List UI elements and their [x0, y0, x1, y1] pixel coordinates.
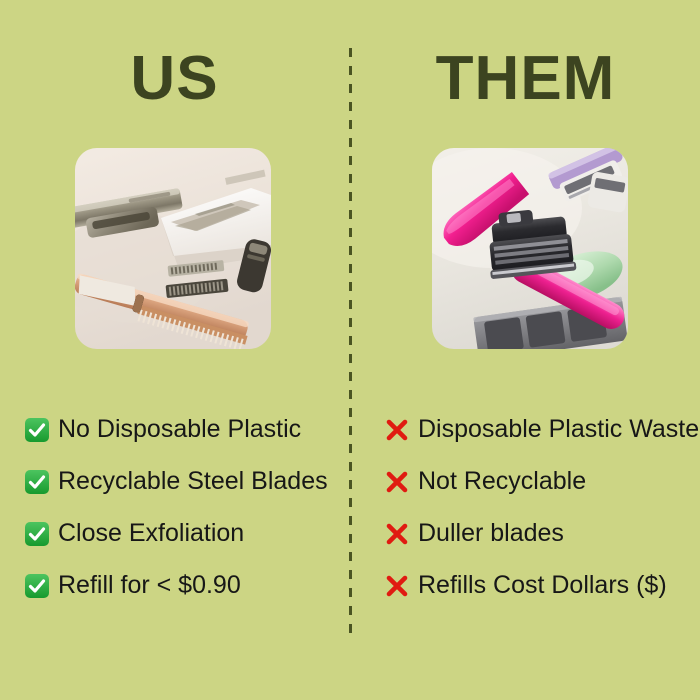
list-item: Refills Cost Dollars ($) [384, 560, 684, 612]
list-item: Disposable Plastic Waste [384, 404, 684, 456]
feature-list-us: No Disposable Plastic Recyclable Steel B… [24, 404, 344, 612]
feature-list-them: Disposable Plastic Waste Not Recyclable … [384, 404, 684, 612]
cross-icon [384, 573, 410, 599]
check-icon [24, 417, 50, 443]
product-photo-us [75, 148, 271, 349]
comparison-infographic: US THEM [0, 0, 700, 700]
list-item-label: Refill for < $0.90 [58, 572, 241, 600]
list-item: Recyclable Steel Blades [24, 456, 344, 508]
list-item: Duller blades [384, 508, 684, 560]
list-item: No Disposable Plastic [24, 404, 344, 456]
list-item-label: No Disposable Plastic [58, 416, 301, 444]
column-heading-us: US [0, 48, 349, 110]
list-item: Refill for < $0.90 [24, 560, 344, 612]
cross-icon [384, 417, 410, 443]
cross-icon [384, 469, 410, 495]
cross-icon [384, 521, 410, 547]
list-item-label: Not Recyclable [418, 468, 586, 496]
check-icon [24, 573, 50, 599]
list-item: Not Recyclable [384, 456, 684, 508]
list-item: Close Exfoliation [24, 508, 344, 560]
column-heading-them: THEM [351, 48, 700, 110]
list-item-label: Duller blades [418, 520, 564, 548]
check-icon [24, 521, 50, 547]
product-photo-them [432, 148, 628, 349]
check-icon [24, 469, 50, 495]
dashed-divider [349, 48, 352, 642]
list-item-label: Recyclable Steel Blades [58, 468, 328, 496]
list-item-label: Close Exfoliation [58, 520, 244, 548]
list-item-label: Disposable Plastic Waste [418, 416, 699, 444]
list-item-label: Refills Cost Dollars ($) [418, 572, 667, 600]
